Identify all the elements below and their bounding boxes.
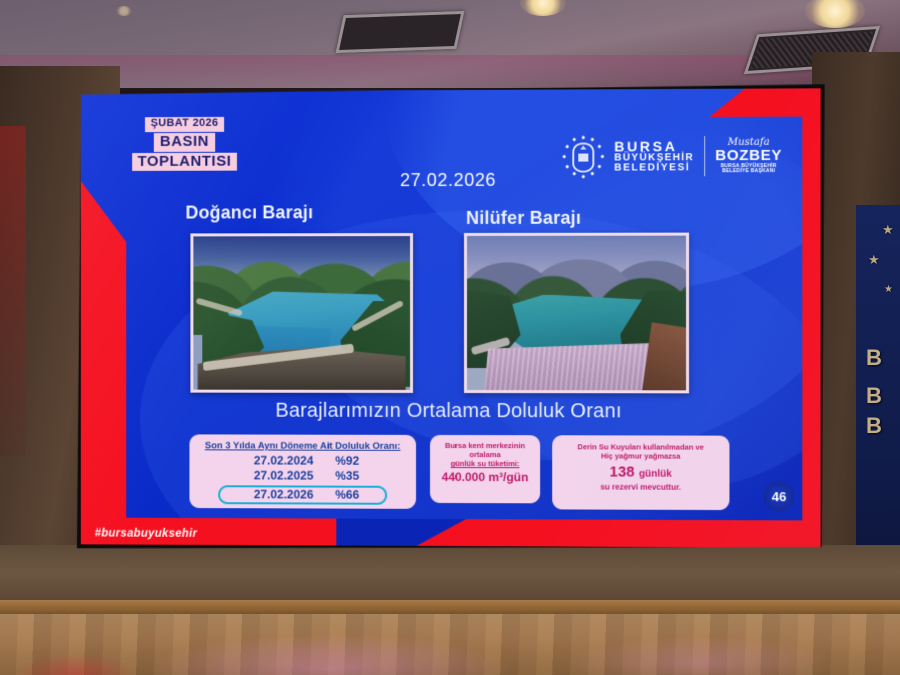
slide-date: 27.02.2026 bbox=[81, 169, 821, 192]
reserve-line-4: su rezervi mevcuttur. bbox=[560, 482, 721, 492]
slide-page-number: 46 bbox=[764, 481, 794, 511]
footer-hashtag: #bursabuyuksehir bbox=[95, 528, 198, 540]
reserve-days: 138 günlük bbox=[560, 463, 721, 481]
table-row-highlighted: 27.02.2026 %66 bbox=[218, 485, 387, 505]
table-cell-date: 27.02.2025 bbox=[234, 469, 313, 485]
water-reserve-box: Derin Su Kuyuları kullanılmadan ve Hiç y… bbox=[552, 435, 729, 510]
table-cell-value: %66 bbox=[335, 487, 371, 502]
panel-letter-1: B bbox=[866, 345, 882, 371]
panel-letter-2: B bbox=[866, 383, 882, 409]
downlight-3-icon bbox=[116, 6, 132, 16]
badge-line-toplantisi: TOPLANTISI bbox=[132, 152, 238, 171]
hvac-vent-left-icon bbox=[335, 11, 464, 53]
reserve-days-value: 138 bbox=[609, 463, 634, 480]
reserve-days-unit: günlük bbox=[639, 468, 672, 479]
occupancy-rate-table: Son 3 Yılda Aynı Döneme Ait Doluluk Oran… bbox=[189, 434, 416, 508]
dam-title-dogancı: Doğancı Barajı bbox=[185, 202, 313, 223]
press-conference-badge: ŞUBAT 2026 BASIN TOPLANTISI bbox=[122, 113, 247, 173]
consumption-value: 440.000 m³/gün bbox=[438, 470, 532, 484]
table-cell-value: %92 bbox=[335, 454, 371, 469]
wall-panel-right: ★ ★ ★ B B B bbox=[856, 205, 900, 585]
reserve-line-1: Derin Su Kuyuları kullanılmadan ve bbox=[560, 442, 721, 452]
mayor-last-name: BOZBEY bbox=[715, 148, 782, 164]
consumption-line-1: Bursa kent merkezinin bbox=[438, 441, 532, 450]
red-accent-right bbox=[802, 88, 820, 547]
panel-star-2-icon: ★ bbox=[868, 253, 880, 266]
dam-photo-dogancı bbox=[190, 233, 413, 393]
section-title: Barajlarımızın Ortalama Doluluk Oranı bbox=[81, 399, 821, 423]
panel-star-1-icon: ★ bbox=[882, 223, 894, 236]
presentation-screen-bezel: ŞUBAT 2026 BASIN TOPLANTISI bbox=[77, 84, 825, 551]
floor-reflection bbox=[0, 614, 900, 675]
presentation-slide: ŞUBAT 2026 BASIN TOPLANTISI bbox=[81, 88, 821, 547]
panel-star-3-icon: ★ bbox=[884, 285, 893, 295]
consumption-line-2: ortalama bbox=[438, 450, 532, 459]
badge-month-year: ŞUBAT 2026 bbox=[145, 117, 225, 132]
table-cell-date: 27.02.2026 bbox=[234, 487, 313, 503]
conference-room: ★ ★ ★ B B B ŞUBAT 2026 BASIN TOPLANTISI bbox=[0, 0, 900, 675]
dam-title-nilufer: Nilüfer Barajı bbox=[466, 208, 581, 229]
consumption-line-3: günlük su tüketimi: bbox=[438, 459, 532, 468]
table-row: 27.02.2025 %35 bbox=[197, 469, 408, 485]
dam-photo-nilufer bbox=[464, 233, 689, 394]
daily-consumption-box: Bursa kent merkezinin ortalama günlük su… bbox=[430, 435, 540, 503]
table-heading: Son 3 Yılda Aynı Döneme Ait Doluluk Oran… bbox=[197, 440, 408, 452]
logo-bursa: BURSA bbox=[614, 139, 694, 154]
table-cell-value: %35 bbox=[335, 469, 371, 484]
table-row: 27.02.2024 %92 bbox=[197, 453, 408, 469]
badge-line-basin: BASIN bbox=[154, 133, 215, 152]
reserve-line-2: Hiç yağmur yağmazsa bbox=[560, 452, 721, 462]
table-cell-date: 27.02.2024 bbox=[234, 453, 313, 469]
panel-letter-3: B bbox=[866, 413, 882, 439]
